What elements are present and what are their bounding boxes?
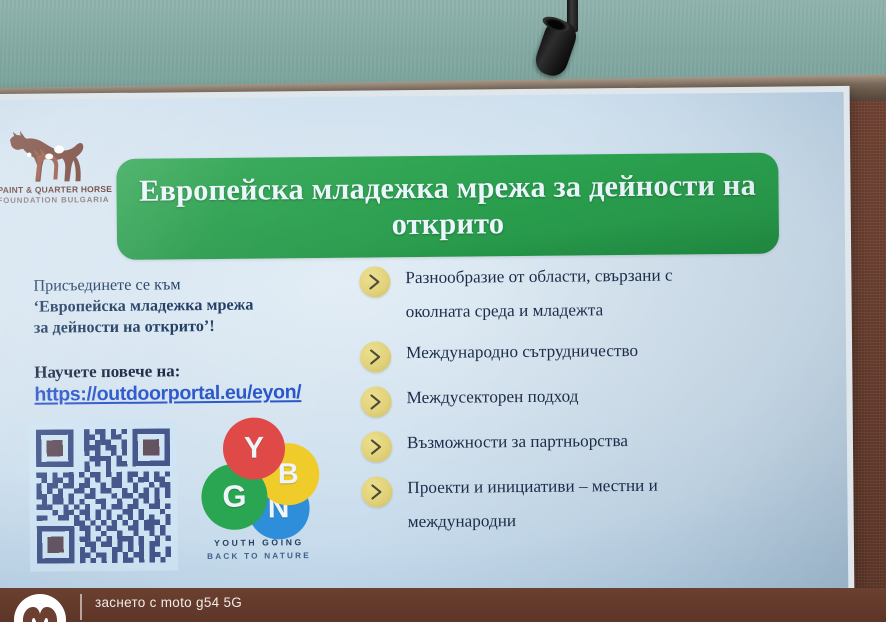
join-line-1: Присъединете се към (33, 273, 353, 297)
bullet-text: Международно сътрудничество (406, 335, 790, 364)
join-line-2: ‘Европейска младежка мрежа (34, 294, 354, 318)
presentation-slide: PAINT & QUARTER HORSE FOUNDATION BULGARI… (0, 92, 848, 596)
chevron-right-icon (360, 341, 391, 372)
join-line-3: за дейности на открито’! (34, 315, 354, 339)
horse-silhouette-icon (0, 129, 100, 188)
bullet-item: Разнообразие от области, свързани с окол… (359, 260, 790, 323)
left-column: Присъединете се към ‘Европейска младежка… (33, 273, 354, 407)
org-logo-line-2: FOUNDATION BULGARIA (0, 195, 100, 205)
bullet-item: Възможности за партньорства (361, 425, 791, 463)
chevron-right-icon (359, 266, 390, 297)
motorola-m-icon (14, 594, 66, 622)
qr-code[interactable] (36, 428, 171, 563)
learn-more-label: Научете повече на: (34, 360, 354, 383)
chevron-right-icon (360, 386, 391, 417)
bullet-item: Междусекторен подход (360, 380, 790, 418)
ygn-letter-y: Y (223, 417, 286, 480)
ygn-tagline-1: YOUTH GOING (196, 537, 322, 548)
watermark-divider (80, 594, 82, 620)
ygn-logo: Y B G N YOUTH GOING BACK TO NATURE (195, 415, 323, 576)
eyon-portal-link[interactable]: https://outdoorportal.eu/eyon/ (34, 381, 301, 407)
camera-watermark-bar: заснето с moto g54 5G (0, 588, 886, 622)
photograph-scene: PAINT & QUARTER HORSE FOUNDATION BULGARI… (0, 0, 886, 622)
ygn-tagline-2: BACK TO NATURE (196, 551, 322, 561)
chevron-right-icon (361, 431, 392, 462)
bullet-list: Разнообразие от области, свързани с окол… (359, 260, 792, 544)
slide-title: Европейска младежка мрежа за дейности на… (116, 168, 779, 245)
org-logo-line-1: PAINT & QUARTER HORSE (0, 184, 100, 195)
bullet-item: Международно сътрудничество (360, 335, 790, 373)
slide-title-banner: Европейска младежка мрежа за дейности на… (116, 153, 779, 260)
bullet-item: Проекти и инициативи – местни и междунар… (361, 470, 792, 533)
org-logo: PAINT & QUARTER HORSE FOUNDATION BULGARI… (0, 129, 101, 222)
bullet-text: Проекти и инициативи – местни и (407, 470, 791, 499)
bullet-text: Междусекторен подход (406, 380, 790, 409)
bullet-continuation: международни (408, 508, 792, 533)
bullet-text: Разнообразие от области, свързани с (405, 260, 789, 289)
chevron-right-icon (361, 476, 392, 507)
bullet-continuation: околната среда и младежта (406, 298, 790, 323)
projection-screen: PAINT & QUARTER HORSE FOUNDATION BULGARI… (0, 92, 848, 596)
watermark-text: заснето с moto g54 5G (95, 595, 242, 610)
bullet-text: Възможности за партньорства (407, 425, 791, 454)
qr-code-panel (29, 420, 178, 571)
